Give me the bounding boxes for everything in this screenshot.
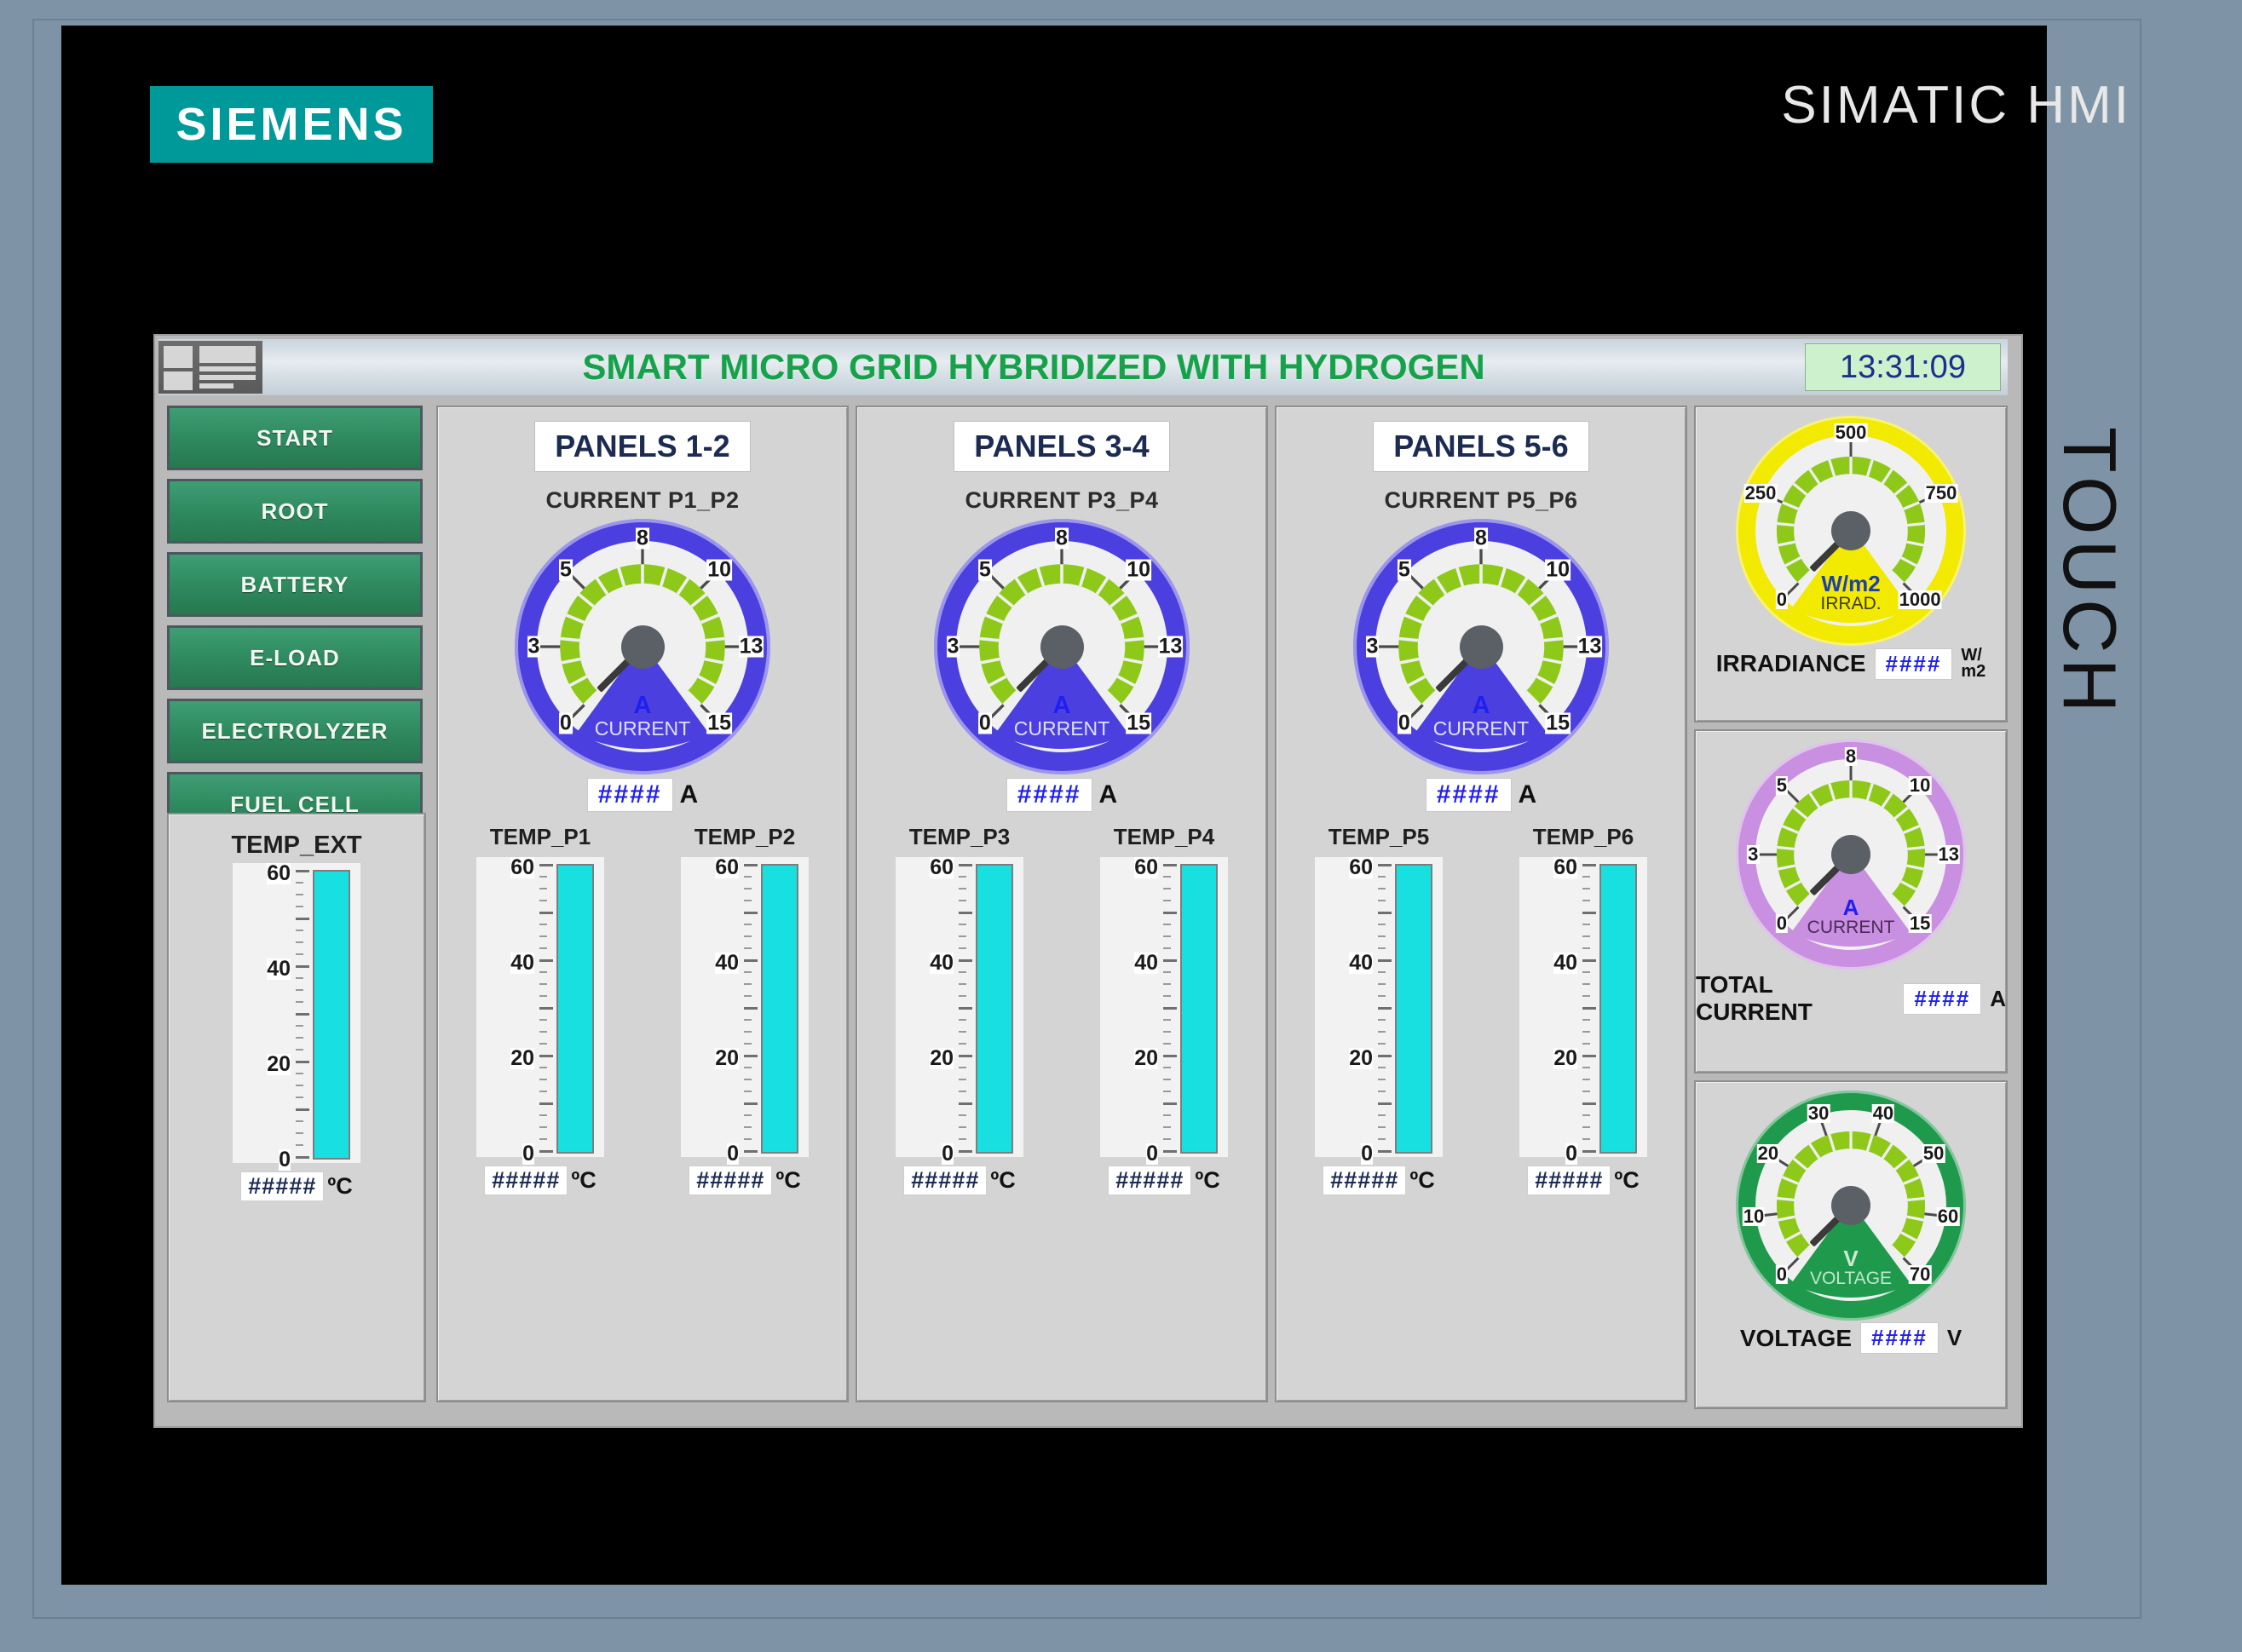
gauge-tick-label: 10	[706, 559, 732, 580]
thermometer-label: TEMP_P1	[459, 824, 621, 850]
thermometer-ticks	[959, 864, 972, 1150]
voltage-value: ####	[1860, 1322, 1939, 1354]
thermometer-value: #####	[1323, 1166, 1406, 1195]
thermometer-value: #####	[1527, 1166, 1611, 1195]
gauge-tick-label: 8	[1845, 747, 1857, 766]
total_current-readout: TOTAL CURRENT####A	[1696, 971, 2006, 1026]
nav-menu: START ROOT BATTERY E-LOAD ELECTROLYZER F…	[167, 406, 423, 845]
app-banner: SMART MICRO GRID HYBRIDIZED WITH HYDROGE…	[158, 339, 2008, 395]
gauge-tick-label: 40	[1872, 1104, 1894, 1123]
thermometer-value: #####	[240, 1171, 324, 1201]
thermometer-value: #####	[484, 1166, 568, 1195]
gauge-tick-label: 10	[1126, 559, 1151, 580]
thermometer-unit: ºC	[571, 1167, 596, 1194]
irradiance-value: ####	[1875, 648, 1953, 680]
thermometer-fill	[1182, 866, 1216, 1152]
thermometer: TEMP_P16040200#####ºC	[459, 824, 621, 1195]
thermometer-scale: 6040200	[896, 861, 957, 1154]
gauge-unit-symbol: A	[1473, 692, 1490, 720]
gauge: 0358101315ACURRENT	[1353, 519, 1609, 774]
thermometer-tube	[1395, 864, 1432, 1154]
thermometer-body: 6040200	[476, 857, 604, 1157]
gauge-tick-label: 15	[1126, 713, 1151, 734]
thermometer-unit: ºC	[990, 1167, 1015, 1194]
gauge-tick-label: 50	[1922, 1144, 1945, 1163]
gauge-center-label: VOLTAGE	[1810, 1269, 1892, 1289]
panel-thermometer-row: TEMP_P16040200#####ºCTEMP_P26040200#####…	[438, 824, 847, 1195]
gauge-tick-label: 13	[739, 636, 764, 658]
thermometer-body: 6040200	[1315, 857, 1443, 1157]
thermometer-tick-label: 0	[522, 1143, 534, 1165]
panel-current-unit: A	[680, 780, 699, 809]
irradiance-unit-denominator: m2	[1961, 664, 1986, 680]
gauge-tick-label: 0	[1398, 713, 1411, 734]
panel-title: PANELS 5-6	[1373, 421, 1589, 472]
thermometer-unit: ºC	[775, 1167, 800, 1194]
gauge-tick-label: 30	[1807, 1104, 1830, 1123]
gauge-center-label: CURRENT	[1433, 717, 1529, 740]
gauge-tick-label: 3	[1747, 845, 1759, 864]
panel-current-unit: A	[1519, 780, 1537, 809]
thermometer-tube	[976, 864, 1013, 1154]
thermometer-unit: ºC	[1195, 1167, 1219, 1194]
thermometer-tick-label: 0	[1361, 1143, 1373, 1165]
voltage-group: 010203040506070VVOLTAGEVOLTAGE####V	[1694, 1080, 2008, 1409]
thermometer-unit: ºC	[1409, 1167, 1434, 1194]
panel-current-label: CURRENT P3_P4	[857, 487, 1266, 514]
thermometer-body: 6040200	[896, 857, 1023, 1157]
thermometer-body: 6040200	[233, 863, 360, 1163]
irradiance-readout: IRRADIANCE####W/m2	[1696, 648, 2006, 680]
panel-title: PANELS 3-4	[954, 421, 1170, 472]
gauge-unit-symbol: A	[1053, 692, 1071, 720]
plant-photo-thumbnail	[158, 341, 262, 394]
clock-display: 13:31:09	[1805, 343, 2001, 391]
gauge-tick-label: 10	[1545, 559, 1571, 580]
gauge-tick-label: 1000	[1899, 590, 1942, 609]
thermometer-label: TEMP_P4	[1083, 824, 1245, 850]
summary-column: 02505007501000W/m2IRRAD.IRRADIANCE####W/…	[1694, 406, 2008, 1416]
hmi-device: SIEMENS SIMATIC HMI TOUCH SMART MICRO GR…	[0, 0, 2242, 1652]
thermometer-body: 6040200	[1100, 857, 1228, 1157]
thermometer: TEMP_P26040200#####ºC	[664, 824, 826, 1195]
nav-button-battery[interactable]: BATTERY	[167, 552, 423, 617]
gauge-tick-label: 5	[978, 559, 992, 580]
gauge: 02505007501000W/m2IRRAD.	[1736, 416, 1966, 646]
panel-current-label: CURRENT P1_P2	[438, 487, 847, 514]
gauge-hub	[1831, 1186, 1870, 1225]
gauge-tick-label: 15	[1545, 713, 1571, 734]
voltage-label: VOLTAGE	[1740, 1325, 1852, 1352]
gauge-hub	[1831, 511, 1870, 550]
thermometer-tick-label: 60	[930, 857, 954, 878]
gauge-tick-label: 500	[1835, 423, 1868, 442]
panel-current-unit: A	[1099, 780, 1118, 809]
thermometer-fill	[1397, 866, 1431, 1152]
thermometer-fill	[977, 866, 1011, 1152]
thermometer: TEMP_P46040200#####ºC	[1083, 824, 1245, 1195]
nav-button-start[interactable]: START	[167, 406, 423, 470]
nav-button-root[interactable]: ROOT	[167, 479, 423, 544]
thermometer-body: 6040200	[681, 857, 809, 1157]
total_current-label: TOTAL CURRENT	[1696, 971, 1894, 1026]
hmi-application-window: SMART MICRO GRID HYBRIDIZED WITH HYDROGE…	[153, 334, 2023, 1428]
thermometer-tick-label: 60	[1553, 857, 1577, 878]
irradiance-group: 02505007501000W/m2IRRAD.IRRADIANCE####W/…	[1694, 406, 2008, 722]
thermometer-tick-label: 0	[942, 1143, 954, 1165]
thermometer-tick-label: 0	[1146, 1143, 1158, 1165]
thermometer-tube	[556, 864, 594, 1154]
thermometer-tick-label: 40	[1134, 953, 1158, 974]
gauge-tick-label: 5	[559, 559, 573, 580]
thermometer-tick-label: 60	[510, 857, 534, 878]
irradiance-unit: W/m2	[1961, 648, 1986, 680]
gauge-tick-label: 0	[978, 713, 992, 734]
irradiance-label: IRRADIANCE	[1716, 650, 1866, 677]
thermometer-scale: 6040200	[1315, 861, 1376, 1154]
gauge-tick-label: 20	[1757, 1144, 1779, 1163]
thermometer-tick-label: 40	[267, 958, 291, 980]
thermometer-value: #####	[903, 1166, 987, 1195]
thermometer-tick-label: 40	[1349, 953, 1373, 974]
gauge-tick-label: 15	[706, 713, 732, 734]
total-current-group: 0358101315ACURRENTTOTAL CURRENT####A	[1694, 729, 2008, 1074]
thermometer-tick-label: 40	[510, 953, 534, 974]
panel-thermometer-row: TEMP_P36040200#####ºCTEMP_P46040200#####…	[857, 824, 1266, 1195]
thermometer-tick-label: 0	[279, 1149, 291, 1171]
gauge-tick-label: 13	[1938, 845, 1960, 864]
gauge: 0358101315ACURRENT	[1736, 740, 1966, 970]
gauge-tick-label: 8	[636, 527, 649, 549]
thermometer-tick-label: 20	[1349, 1048, 1373, 1069]
thermometer: TEMP_P66040200#####ºC	[1502, 824, 1664, 1195]
gauge-hub	[1040, 625, 1084, 669]
thermometer-ticks	[744, 864, 758, 1150]
panel-title: PANELS 1-2	[534, 421, 751, 472]
panel-current-value: ####	[1426, 778, 1512, 812]
gauge-center-label: CURRENT	[595, 717, 690, 740]
thermometer-tick-label: 20	[1553, 1048, 1577, 1069]
gauge-tick-label: 10	[1743, 1207, 1765, 1226]
thermometer-value: #####	[689, 1166, 772, 1195]
voltage-readout: VOLTAGE####V	[1696, 1322, 2006, 1354]
gauge-center-label: CURRENT	[1807, 918, 1895, 938]
gauge-hub	[621, 625, 665, 669]
panel-current-value: ####	[587, 778, 673, 812]
gauge-tick-label: 750	[1925, 484, 1958, 503]
gauge-center-label: IRRAD.	[1820, 594, 1881, 614]
temp-ext-title: TEMP_EXT	[169, 832, 424, 860]
temp-ext-group: TEMP_EXT 6040200#####ºC	[167, 813, 426, 1402]
thermometer-value: #####	[1108, 1166, 1191, 1195]
gauge-tick-label: 10	[1909, 776, 1931, 795]
gauge-unit-symbol: A	[634, 692, 652, 720]
thermometer-tick-label: 60	[715, 857, 739, 878]
gauge-tick-label: 13	[1158, 636, 1184, 658]
thermometer-unit: ºC	[327, 1173, 352, 1200]
gauge-tick-label: 250	[1744, 484, 1778, 503]
gauge-hub	[1831, 835, 1870, 874]
siemens-logo: SIEMENS	[150, 86, 433, 163]
gauge-hub	[1460, 625, 1503, 669]
gauge-tick-label: 3	[947, 636, 960, 658]
thermometer-tick-label: 20	[930, 1048, 954, 1069]
thermometer-body: 6040200	[1519, 857, 1647, 1157]
gauge-tick-label: 8	[1474, 527, 1488, 549]
thermometer-ticks	[539, 864, 553, 1150]
siemens-logo-text: SIEMENS	[176, 98, 406, 151]
gauge-tick-label: 8	[1055, 527, 1069, 549]
thermometer-tick-label: 20	[267, 1054, 291, 1075]
thermometer-fill	[314, 872, 349, 1158]
gauge-tick-label: 13	[1577, 636, 1603, 658]
total_current-unit: A	[1990, 986, 2006, 1012]
thermometer-tick-label: 0	[727, 1143, 739, 1165]
thermometer-tube	[313, 870, 350, 1160]
gauge-tick-label: 0	[1776, 590, 1788, 609]
gauge-tick-label: 3	[527, 636, 541, 658]
gauge: 0358101315ACURRENT	[934, 519, 1190, 774]
thermometer: TEMP_P36040200#####ºC	[879, 824, 1040, 1195]
thermometer-scale: 6040200	[476, 861, 538, 1154]
thermometer-tube	[761, 864, 798, 1154]
thermometer-scale: 6040200	[681, 861, 742, 1154]
thermometer-unit: ºC	[1614, 1167, 1639, 1194]
gauge-tick-label: 15	[1909, 914, 1931, 933]
panel-group-1-2: PANELS 1-2CURRENT P1_P20358101315ACURREN…	[436, 406, 849, 1402]
panel-current-value: ####	[1006, 778, 1092, 812]
thermometer-label: TEMP_P3	[879, 824, 1040, 850]
gauge: 010203040506070VVOLTAGE	[1736, 1091, 1966, 1321]
gauge-tick-label: 0	[1776, 914, 1788, 933]
thermometer: 6040200#####ºC	[169, 863, 424, 1201]
thermometer-tick-label: 20	[715, 1048, 739, 1069]
thermometer-tick-label: 20	[1134, 1048, 1158, 1069]
gauge-tick-label: 70	[1909, 1265, 1931, 1284]
thermometer-ticks	[1582, 864, 1596, 1150]
gauge: 0358101315ACURRENT	[515, 519, 770, 774]
total_current-value: ####	[1903, 983, 1981, 1015]
thermometer-ticks	[296, 870, 309, 1156]
simatic-hmi-label: SIMATIC HMI	[1781, 75, 2131, 135]
thermometer: TEMP_P56040200#####ºC	[1298, 824, 1460, 1195]
nav-button-e-load[interactable]: E-LOAD	[167, 625, 423, 690]
voltage-unit: V	[1947, 1325, 1962, 1351]
thermometer-ticks	[1378, 864, 1392, 1150]
thermometer-fill	[763, 866, 797, 1152]
thermometer-tick-label: 60	[267, 863, 291, 884]
thermometer-tick-label: 0	[1565, 1143, 1577, 1165]
thermometer-scale: 6040200	[1100, 861, 1161, 1154]
thermometer-fill	[558, 866, 592, 1152]
thermometer-ticks	[1163, 864, 1177, 1150]
thermometer-tick-label: 40	[1553, 953, 1577, 974]
gauge-center-label: CURRENT	[1014, 717, 1109, 740]
thermometer-tube	[1599, 864, 1637, 1154]
panel-group-5-6: PANELS 5-6CURRENT P5_P60358101315ACURREN…	[1275, 406, 1687, 1402]
thermometer-tick-label: 40	[930, 953, 954, 974]
thermometer-tick-label: 60	[1134, 857, 1158, 878]
thermometer-label: TEMP_P5	[1298, 824, 1460, 850]
app-title: SMART MICRO GRID HYBRIDIZED WITH HYDROGE…	[262, 347, 1805, 388]
thermometer-label: TEMP_P2	[664, 824, 826, 850]
thermometer-fill	[1601, 866, 1635, 1152]
thermometer-tick-label: 20	[510, 1048, 534, 1069]
touch-label-text: TOUCH	[2046, 427, 2133, 717]
thermometer-label: TEMP_P6	[1502, 824, 1664, 850]
panel-group-3-4: PANELS 3-4CURRENT P3_P40358101315ACURREN…	[856, 406, 1268, 1402]
temp-ext-thermometer: 6040200#####ºC	[169, 863, 424, 1201]
gauge-tick-label: 5	[1398, 559, 1411, 580]
touch-label: TOUCH	[2038, 317, 2141, 828]
thermometer-scale: 6040200	[1519, 861, 1581, 1154]
thermometer-tick-label: 60	[1349, 857, 1373, 878]
nav-button-electrolyzer[interactable]: ELECTROLYZER	[167, 699, 423, 763]
gauge-tick-label: 5	[1776, 776, 1788, 795]
panel-thermometer-row: TEMP_P56040200#####ºCTEMP_P66040200#####…	[1277, 824, 1686, 1195]
gauge-tick-label: 0	[559, 713, 573, 734]
gauge-tick-label: 3	[1366, 636, 1380, 658]
panel-current-label: CURRENT P5_P6	[1277, 487, 1686, 514]
thermometer-tick-label: 40	[715, 953, 739, 974]
thermometer-tube	[1180, 864, 1218, 1154]
gauge-tick-label: 60	[1937, 1207, 1959, 1226]
thermometer-scale: 6040200	[233, 866, 294, 1160]
gauge-tick-label: 0	[1776, 1265, 1788, 1284]
